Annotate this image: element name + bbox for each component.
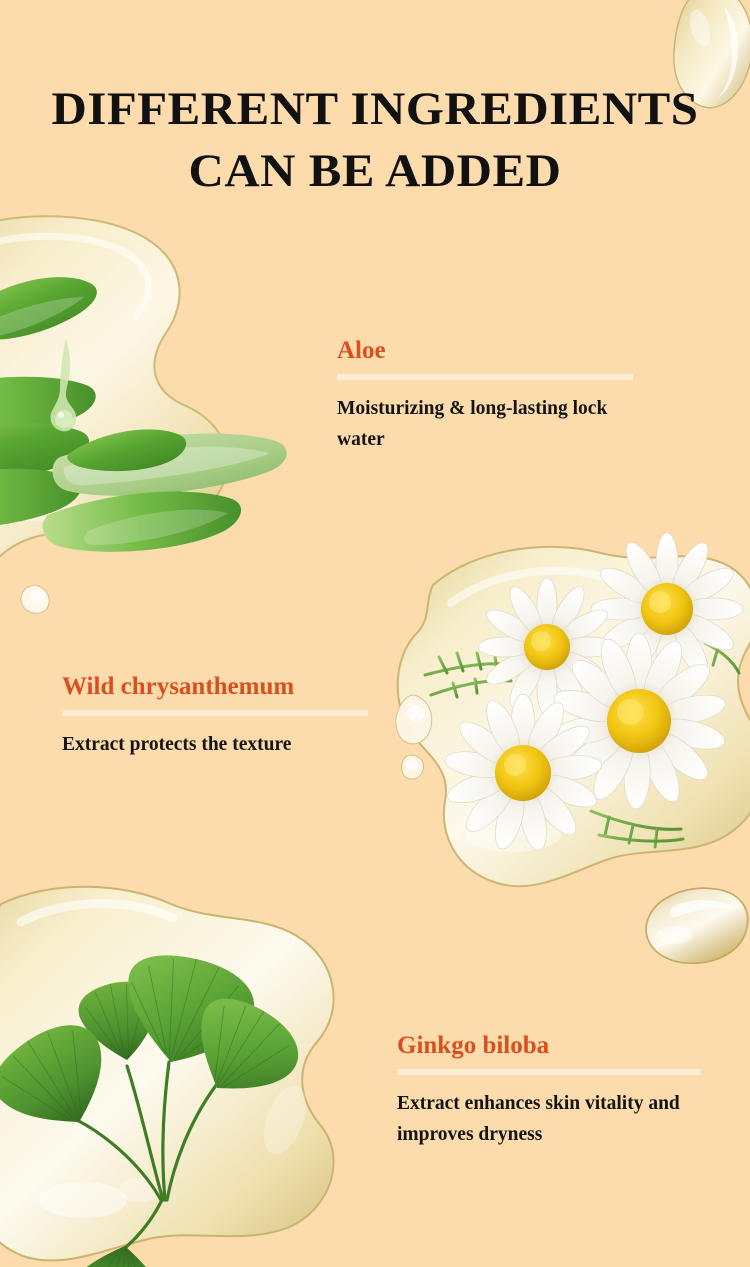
gel-droplet-right-icon bbox=[630, 875, 750, 970]
ingredient-divider-ginkgo bbox=[397, 1069, 701, 1075]
ingredient-divider-aloe bbox=[337, 374, 633, 380]
page-title: DIFFERENT INGREDIENTS CAN BE ADDED bbox=[0, 78, 750, 202]
water-droplet-pair-icon bbox=[392, 693, 442, 783]
ginkgo-leaves-illustration bbox=[0, 870, 355, 1267]
ingredient-name-ginkgo: Ginkgo biloba bbox=[397, 1031, 701, 1061]
ingredient-description-chrysanthemum: Extract protects the texture bbox=[62, 729, 368, 760]
ingredient-name-aloe: Aloe bbox=[337, 336, 633, 366]
aloe-vera-illustration bbox=[0, 205, 340, 625]
water-droplet-left-icon bbox=[18, 583, 52, 615]
ingredient-block-ginkgo: Ginkgo biloba Extract enhances skin vita… bbox=[397, 1031, 701, 1150]
ingredient-name-chrysanthemum: Wild chrysanthemum bbox=[62, 672, 368, 702]
ingredient-block-aloe: Aloe Moisturizing & long-lasting lock wa… bbox=[337, 336, 633, 455]
ingredient-divider-chrysanthemum bbox=[62, 710, 368, 716]
ingredient-block-chrysanthemum: Wild chrysanthemum Extract protects the … bbox=[62, 672, 368, 760]
ingredients-poster: DIFFERENT INGREDIENTS CAN BE ADDED Aloe … bbox=[0, 0, 750, 1267]
ingredient-description-aloe: Moisturizing & long-lasting lock water bbox=[337, 393, 633, 455]
page-title-line-1: DIFFERENT INGREDIENTS bbox=[0, 78, 750, 140]
ingredient-description-ginkgo: Extract enhances skin vitality and impro… bbox=[397, 1088, 701, 1150]
chamomile-flowers-illustration bbox=[395, 535, 750, 920]
page-title-line-2: CAN BE ADDED bbox=[0, 140, 750, 202]
